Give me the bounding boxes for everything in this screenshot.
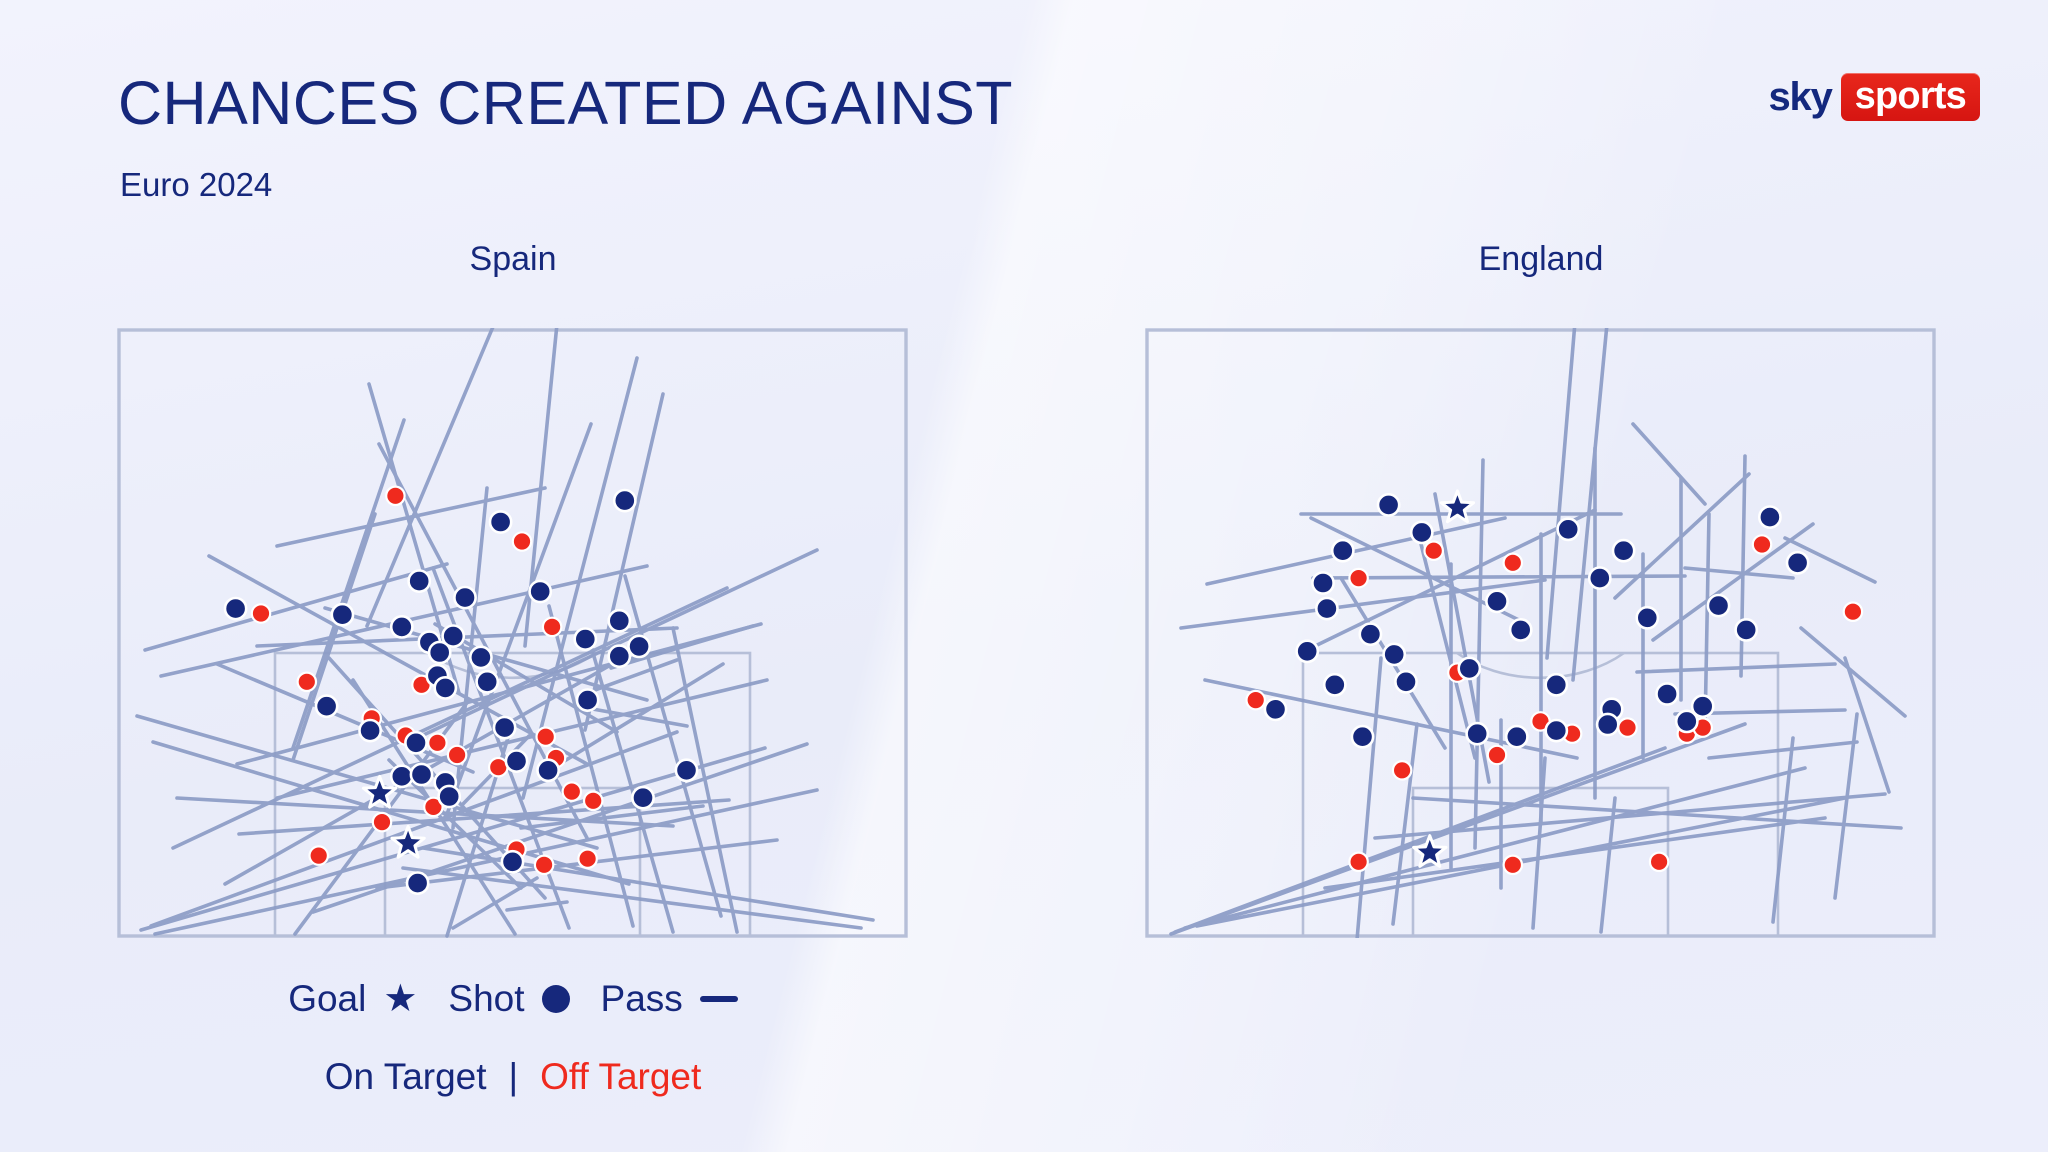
pass-line-icon	[700, 996, 738, 1002]
shot-marker-on-target	[1510, 619, 1531, 640]
shot-marker-off-target	[537, 728, 555, 746]
legend-off-target: Off Target	[540, 1053, 701, 1101]
page-title: CHANCES CREATED AGAINST	[118, 68, 1013, 138]
shot-marker-on-target	[1467, 723, 1488, 744]
shot-marker-on-target	[429, 642, 450, 663]
shot-marker-on-target	[575, 629, 596, 650]
shot-marker-off-target	[1393, 761, 1411, 779]
shot-marker-on-target	[632, 787, 653, 808]
shot-marker-on-target	[1297, 641, 1318, 662]
shot-marker-on-target	[407, 873, 428, 894]
sky-wordmark: sky	[1769, 75, 1832, 119]
legend-pass-label: Pass	[601, 975, 683, 1023]
shot-marker-off-target	[1425, 542, 1443, 560]
shot-marker-on-target	[1486, 591, 1507, 612]
shot-marker-on-target	[225, 598, 246, 619]
shot-marker-on-target	[411, 764, 432, 785]
shot-marker-on-target	[1589, 568, 1610, 589]
shot-marker-on-target	[470, 647, 491, 668]
shot-marker-on-target	[1316, 598, 1337, 619]
shot-marker-on-target	[439, 786, 460, 807]
shot-marker-off-target	[298, 673, 316, 691]
shot-marker-on-target	[1708, 595, 1729, 616]
shot-marker-off-target	[1488, 746, 1506, 764]
shot-marker-on-target	[332, 604, 353, 625]
sky-sports-logo: sky sports	[1769, 74, 1980, 120]
shot-marker-on-target	[1692, 696, 1713, 717]
shot-marker-off-target	[1753, 535, 1771, 553]
shot-marker-on-target	[1736, 619, 1757, 640]
sports-wordmark: sports	[1855, 75, 1966, 117]
shot-marker-off-target	[1504, 554, 1522, 572]
shot-marker-on-target	[1395, 671, 1416, 692]
shot-marker-on-target	[1384, 644, 1405, 665]
shot-marker-off-target	[1504, 856, 1522, 874]
shot-marker-on-target	[577, 690, 598, 711]
shot-marker-on-target	[1613, 540, 1634, 561]
shot-marker-off-target	[1247, 691, 1265, 709]
shot-marker-on-target	[1265, 699, 1286, 720]
shot-marker-on-target	[530, 581, 551, 602]
shot-marker-off-target	[578, 850, 596, 868]
legend: Goal ★ Shot Pass On Target | Off Target	[117, 975, 909, 1101]
shot-marker-on-target	[629, 636, 650, 657]
team-label-spain: Spain	[117, 240, 909, 279]
sports-badge: sports	[1841, 73, 1980, 121]
team-label-england: England	[1145, 240, 1937, 279]
shot-marker-on-target	[1787, 552, 1808, 573]
shot-marker-off-target	[563, 782, 581, 800]
shot-marker-on-target	[1360, 624, 1381, 645]
shot-marker-off-target	[373, 813, 391, 831]
shot-marker-off-target	[543, 618, 561, 636]
shot-marker-on-target	[316, 696, 337, 717]
shot-marker-on-target	[1558, 519, 1579, 540]
shot-marker-on-target	[1506, 726, 1527, 747]
shot-marker-on-target	[1378, 494, 1399, 515]
shot-marker-on-target	[494, 717, 515, 738]
pitch-spain	[117, 328, 908, 938]
shot-marker-off-target	[584, 792, 602, 810]
legend-on-target: On Target	[325, 1053, 487, 1101]
goal-star-icon: ★	[383, 979, 417, 1019]
shot-marker-on-target	[1411, 522, 1432, 543]
shot-markers-england	[1247, 491, 1863, 874]
shot-marker-on-target	[1546, 674, 1567, 695]
shot-marker-on-target	[1759, 507, 1780, 528]
legend-target-row: On Target | Off Target	[117, 1053, 909, 1101]
shot-marker-on-target	[1312, 572, 1333, 593]
shot-marker-on-target	[502, 851, 523, 872]
shot-marker-on-target	[1546, 720, 1567, 741]
shot-marker-off-target	[513, 532, 531, 550]
shot-marker-on-target	[1459, 658, 1480, 679]
shot-marker-on-target	[409, 571, 430, 592]
shot-marker-on-target	[435, 677, 456, 698]
shot-marker-off-target	[1650, 853, 1668, 871]
shot-marker-off-target	[535, 856, 553, 874]
shot-marker-on-target	[1352, 726, 1373, 747]
shot-marker-on-target	[391, 616, 412, 637]
shot-marker-off-target	[1844, 603, 1862, 621]
shot-dot-icon	[542, 985, 570, 1013]
shot-marker-off-target	[428, 734, 446, 752]
shot-marker-off-target	[1349, 569, 1367, 587]
shot-marker-on-target	[1597, 714, 1618, 735]
shot-marker-off-target	[310, 846, 328, 864]
shot-marker-on-target	[609, 646, 630, 667]
shot-marker-off-target	[1618, 718, 1636, 736]
pass-lines-spain	[137, 328, 873, 936]
shot-marker-on-target	[1637, 607, 1658, 628]
shot-marker-on-target	[477, 671, 498, 692]
shot-marker-on-target	[1332, 540, 1353, 561]
pitch-spain-svg	[117, 328, 908, 938]
shot-marker-on-target	[538, 760, 559, 781]
shot-marker-on-target	[360, 720, 381, 741]
page-subtitle: Euro 2024	[120, 166, 272, 204]
pitch-england-svg	[1145, 328, 1936, 938]
legend-separator: |	[505, 1053, 523, 1101]
shot-marker-off-target	[1349, 853, 1367, 871]
shot-marker-on-target	[614, 490, 635, 511]
shot-marker-on-target	[609, 610, 630, 631]
pass-lines-england	[1171, 328, 1905, 938]
shot-marker-on-target	[1324, 674, 1345, 695]
shot-marker-on-target	[1657, 683, 1678, 704]
legend-goal-label: Goal	[288, 975, 366, 1023]
shot-marker-off-target	[448, 746, 466, 764]
shot-marker-on-target	[490, 511, 511, 532]
shot-marker-on-target	[676, 760, 697, 781]
shot-marker-on-target	[405, 732, 426, 753]
shot-marker-on-target	[506, 751, 527, 772]
shot-marker-on-target	[391, 766, 412, 787]
shot-marker-off-target	[252, 604, 270, 622]
goal-star-marker	[1441, 491, 1473, 522]
legend-marker-row: Goal ★ Shot Pass	[117, 975, 909, 1023]
shot-marker-off-target	[386, 487, 404, 505]
shot-marker-on-target	[454, 587, 475, 608]
legend-shot-label: Shot	[448, 975, 524, 1023]
pitch-england	[1145, 328, 1936, 938]
